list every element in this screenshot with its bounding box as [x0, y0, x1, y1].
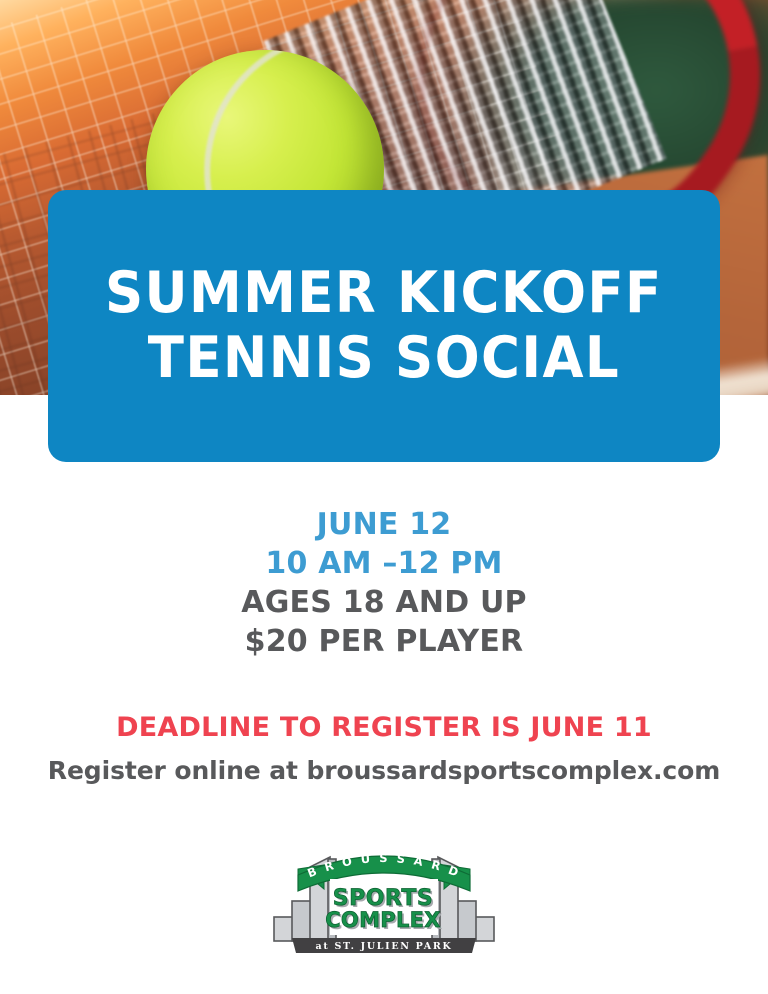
event-time: 10 AM –12 PM — [0, 544, 768, 583]
registration-instruction[interactable]: Register online at broussardsportscomple… — [0, 756, 768, 785]
broussard-sports-complex-logo: B R O U S S A R D SPORTS SPORTS COMPLEX … — [268, 845, 500, 955]
event-details: JUNE 12 10 AM –12 PM AGES 18 AND UP $20 … — [0, 505, 768, 661]
flyer-page: SUMMER KICKOFF TENNIS SOCIAL JUNE 12 10 … — [0, 0, 768, 994]
logo-tagline: at ST. JULIEN PARK — [316, 941, 453, 952]
registration-deadline: DEADLINE TO REGISTER IS JUNE 11 — [0, 710, 768, 746]
title-card: SUMMER KICKOFF TENNIS SOCIAL — [48, 190, 720, 462]
logo-complex-text: COMPLEX — [325, 908, 441, 932]
title-line-2: TENNIS SOCIAL — [148, 326, 620, 391]
registration-block: DEADLINE TO REGISTER IS JUNE 11 Register… — [0, 710, 768, 785]
event-age-requirement: AGES 18 AND UP — [0, 583, 768, 622]
event-date: JUNE 12 — [0, 505, 768, 544]
title-line-1: SUMMER KICKOFF — [105, 261, 663, 326]
event-price: $20 PER PLAYER — [0, 622, 768, 661]
